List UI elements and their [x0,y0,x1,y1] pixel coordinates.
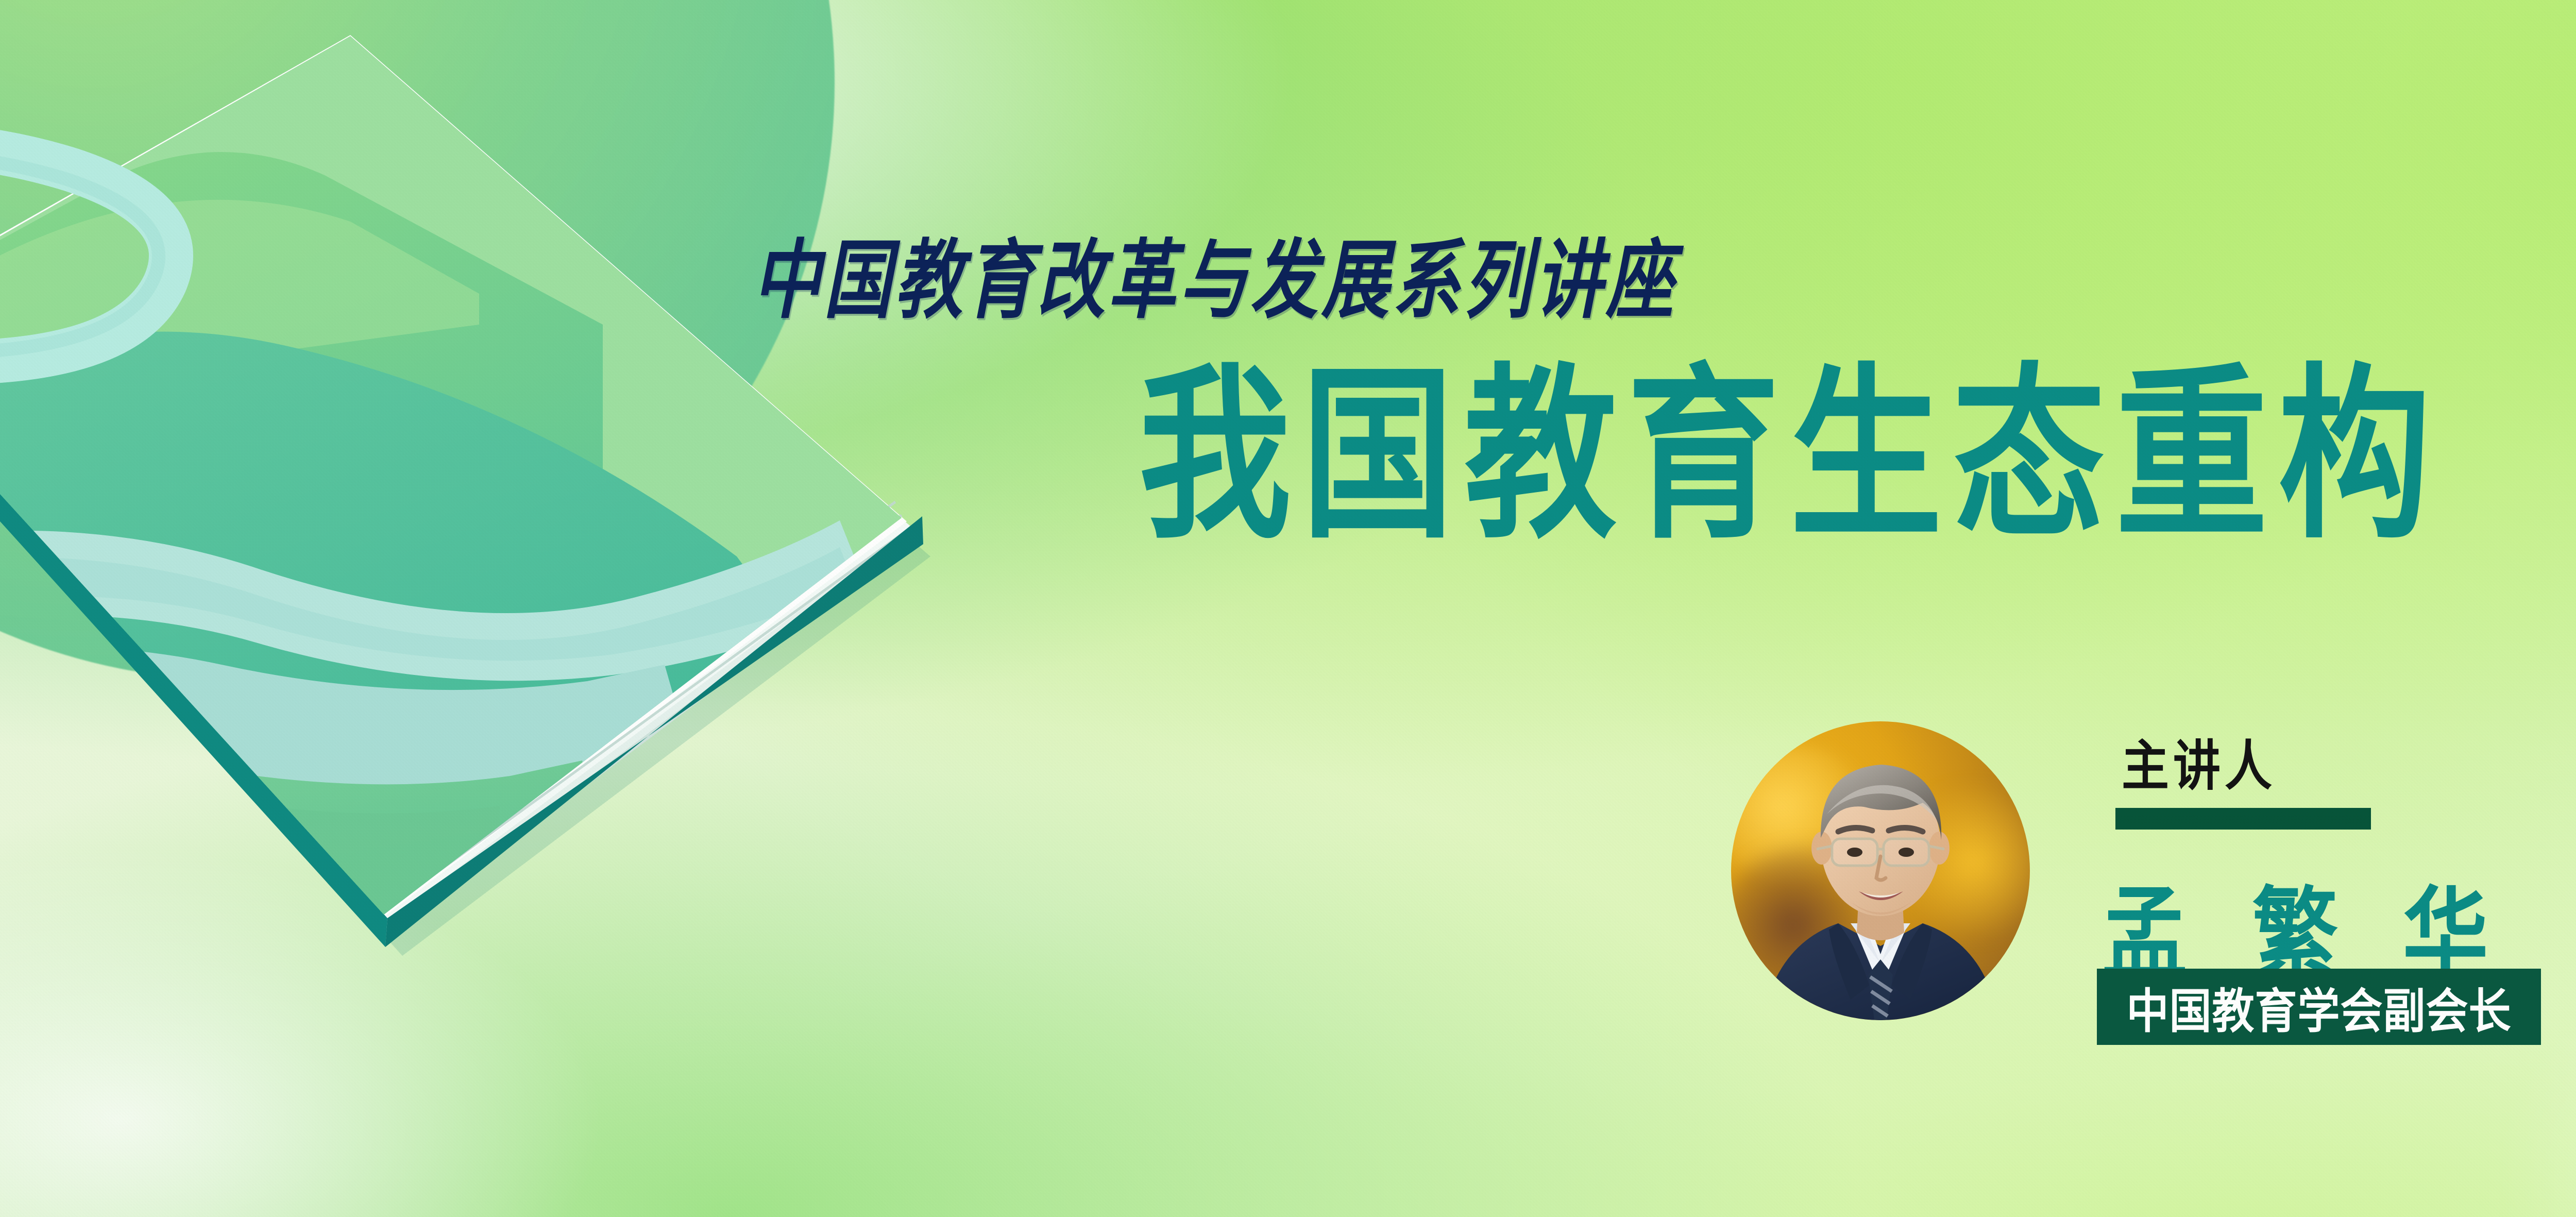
lecture-banner: 中国教育改革与发展系列讲座 我国教育生态重构 [0,0,2576,1217]
paper-grain-texture [0,0,2576,1217]
